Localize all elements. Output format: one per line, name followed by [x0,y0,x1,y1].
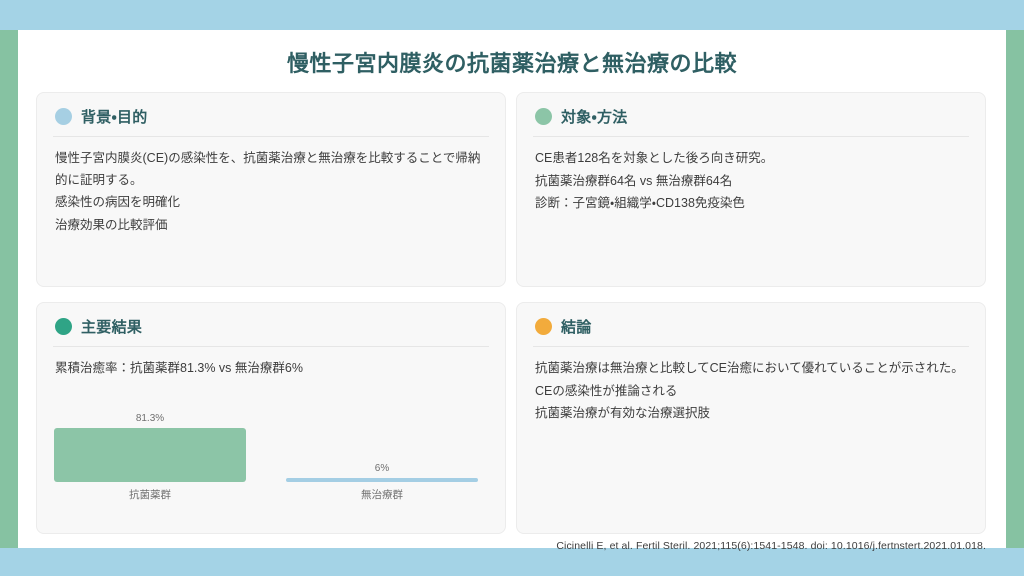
card-methods-line-2: 抗菌薬治療群64名 vs 無治療群64名 [535,171,967,193]
card-results-summary: 累積治癒率：抗菌薬群81.3% vs 無治療群6% [55,358,487,380]
slide-canvas: 慢性子宮内膜炎の抗菌薬治療と無治療の比較 背景・目的 慢性子宮内膜炎(CE)の感… [18,30,1006,548]
page-title: 慢性子宮内膜炎の抗菌薬治療と無治療の比較 [18,46,1006,78]
card-methods-title: 対象・方法 [561,106,628,127]
card-background-header: 背景・目的 [37,93,505,136]
card-results: 主要結果 累積治癒率：抗菌薬群81.3% vs 無治療群6% 81.3% 抗菌薬… [36,302,506,534]
card-background-body: 慢性子宮内膜炎(CE)の感染性を、抗菌薬治療と無治療を比較することで帰納的に証明… [37,137,505,236]
card-conclusion-line-1: 抗菌薬治療は無治療と比較してCE治癒において優れていることが示された。 [535,358,967,380]
card-results-header: 主要結果 [37,303,505,346]
card-methods-line-3: 診断：子宮鏡・組織学・CD138免疫染色 [535,193,967,215]
cure-rate-bar-chart: 81.3% 抗菌薬群 6% 無治療群 [51,394,491,504]
bar-group-antibiotic: 81.3% 抗菌薬群 [54,394,246,504]
card-conclusion-header: 結論 [517,303,985,346]
card-background-title: 背景・目的 [81,106,148,127]
bar-label-untreated: 無治療群 [286,487,478,502]
orange-dot-icon [535,318,552,335]
card-methods: 対象・方法 CE患者128名を対象とした後ろ向き研究。 抗菌薬治療群64名 vs… [516,92,986,287]
bar-track-antibiotic [54,416,246,482]
card-methods-header: 対象・方法 [517,93,985,136]
decorative-band-left [0,30,18,548]
card-background-line-3: 治療効果の比較評価 [55,215,487,237]
card-results-body: 累積治癒率：抗菌薬群81.3% vs 無治療群6% [37,347,505,380]
decorative-band-top [0,0,1024,30]
blue-dot-icon [55,108,72,125]
card-background-line-2: 感染性の病因を明確化 [55,192,487,214]
bar-group-untreated: 6% 無治療群 [286,394,478,504]
card-conclusion-line-3: 抗菌薬治療が有効な治療選択肢 [535,403,967,425]
decorative-band-bottom [0,548,1024,576]
green-dot-icon [535,108,552,125]
teal-dot-icon [55,318,72,335]
citation-text: Cicinelli E, et al. Fertil Steril. 2021;… [556,540,986,552]
card-conclusion-title: 結論 [561,316,592,337]
bar-untreated [286,478,478,482]
card-methods-line-1: CE患者128名を対象とした後ろ向き研究。 [535,148,967,170]
card-conclusion-body: 抗菌薬治療は無治療と比較してCE治癒において優れていることが示された。 CEの感… [517,347,985,425]
card-background: 背景・目的 慢性子宮内膜炎(CE)の感染性を、抗菌薬治療と無治療を比較することで… [36,92,506,287]
bar-label-antibiotic: 抗菌薬群 [54,487,246,502]
card-results-title: 主要結果 [81,316,142,337]
card-conclusion: 結論 抗菌薬治療は無治療と比較してCE治癒において優れていることが示された。 C… [516,302,986,534]
decorative-band-right [1006,30,1024,548]
slide-root: 慢性子宮内膜炎の抗菌薬治療と無治療の比較 背景・目的 慢性子宮内膜炎(CE)の感… [0,0,1024,576]
bar-track-untreated [286,416,478,482]
card-methods-body: CE患者128名を対象とした後ろ向き研究。 抗菌薬治療群64名 vs 無治療群6… [517,137,985,215]
bar-antibiotic [54,428,246,482]
card-background-line-1: 慢性子宮内膜炎(CE)の感染性を、抗菌薬治療と無治療を比較することで帰納的に証明… [55,148,487,191]
card-conclusion-line-2: CEの感染性が推論される [535,381,967,403]
